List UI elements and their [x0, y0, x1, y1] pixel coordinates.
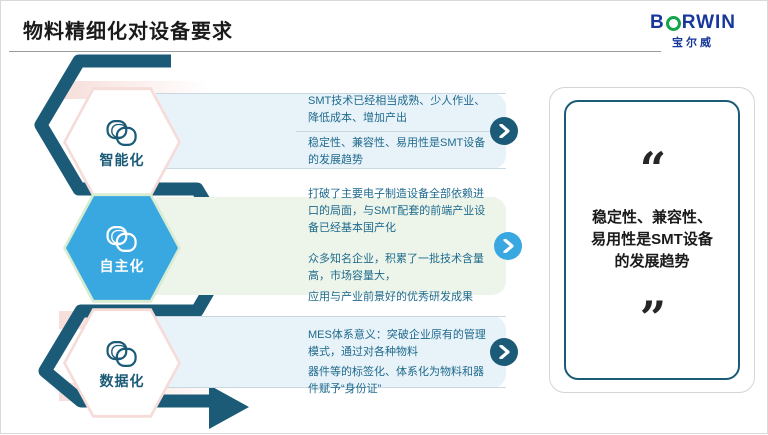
quote-open-mark: “: [640, 158, 664, 181]
chevron-right-icon: [499, 345, 510, 359]
linked-rings-icon: [105, 224, 139, 254]
row-3-line-2: 器件等的标签化、体系化为物料和器件赋予“身份证”: [296, 364, 492, 401]
chevron-right-icon: [499, 124, 510, 138]
chevron-right-button-3[interactable]: [490, 338, 518, 366]
linked-rings-icon: [105, 339, 139, 369]
row-2-line-1: 打破了主要电子制造设备全部依赖进口的局面，与SMT配套的前端产业设备已经基本国产…: [296, 183, 492, 240]
row-2-line-2: 众多知名企业，积累了一批技术含量高，市场容量大，: [296, 241, 492, 288]
content-row-3: MES体系意义：突破企业原有的管理模式，通过对各种物料 器件等的标签化、体系化为…: [156, 316, 506, 388]
linked-rings-icon: [105, 118, 139, 148]
row-1-text-block: SMT技术已经相当成熟、少人作业、降低成本、增加产出 稳定性、兼容性、易用性是S…: [296, 93, 492, 169]
logo-wordmark: B RWIN: [633, 13, 753, 32]
content-row-1: SMT技术已经相当成熟、少人作业、降低成本、增加产出 稳定性、兼容性、易用性是S…: [156, 93, 506, 169]
chevron-right-button-1[interactable]: [490, 117, 518, 145]
title-divider: [9, 51, 661, 52]
quote-text: 稳定性、兼容性、易用性是SMT设备的发展趋势: [588, 207, 716, 272]
chevron-right-icon: [503, 239, 514, 253]
row-1-line-1: SMT技术已经相当成熟、少人作业、降低成本、增加产出: [296, 90, 492, 130]
slide-canvas: 物料精细化对设备要求 B RWIN 宝尔威 SMT技术已经相当成熟、少人作: [0, 0, 768, 434]
logo-letter-b: B: [650, 13, 665, 32]
brand-logo: B RWIN 宝尔威: [633, 13, 753, 50]
hexagon-2-label: 自主化: [100, 259, 145, 273]
page-title: 物料精细化对设备要求: [23, 15, 233, 44]
quote-panel: “ 稳定性、兼容性、易用性是SMT设备的发展趋势 ”: [549, 87, 755, 393]
logo-letters-rwin: RWIN: [682, 13, 736, 32]
row-2-line-3: 应用与产业前景好的优秀研发成果: [296, 288, 492, 309]
row-1-line-2: 稳定性、兼容性、易用性是SMT设备的发展趋势: [296, 131, 492, 172]
chevron-right-button-2[interactable]: [494, 232, 522, 260]
quote-card: “ 稳定性、兼容性、易用性是SMT设备的发展趋势 ”: [564, 100, 740, 380]
hexagon-3-label: 数据化: [100, 374, 145, 388]
row-3-text-block: MES体系意义：突破企业原有的管理模式，通过对各种物料 器件等的标签化、体系化为…: [296, 316, 492, 388]
content-row-2: 打破了主要电子制造设备全部依赖进口的局面，与SMT配套的前端产业设备已经基本国产…: [156, 197, 506, 295]
hexagon-1-label: 智能化: [100, 153, 145, 167]
row-3-line-1: MES体系意义：突破企业原有的管理模式，通过对各种物料: [296, 324, 492, 364]
logo-ring-icon: [666, 16, 681, 31]
row-2-text-block: 打破了主要电子制造设备全部依赖进口的局面，与SMT配套的前端产业设备已经基本国产…: [296, 197, 492, 295]
logo-chinese-name: 宝尔威: [633, 34, 753, 50]
quote-close-mark: ”: [640, 307, 664, 330]
